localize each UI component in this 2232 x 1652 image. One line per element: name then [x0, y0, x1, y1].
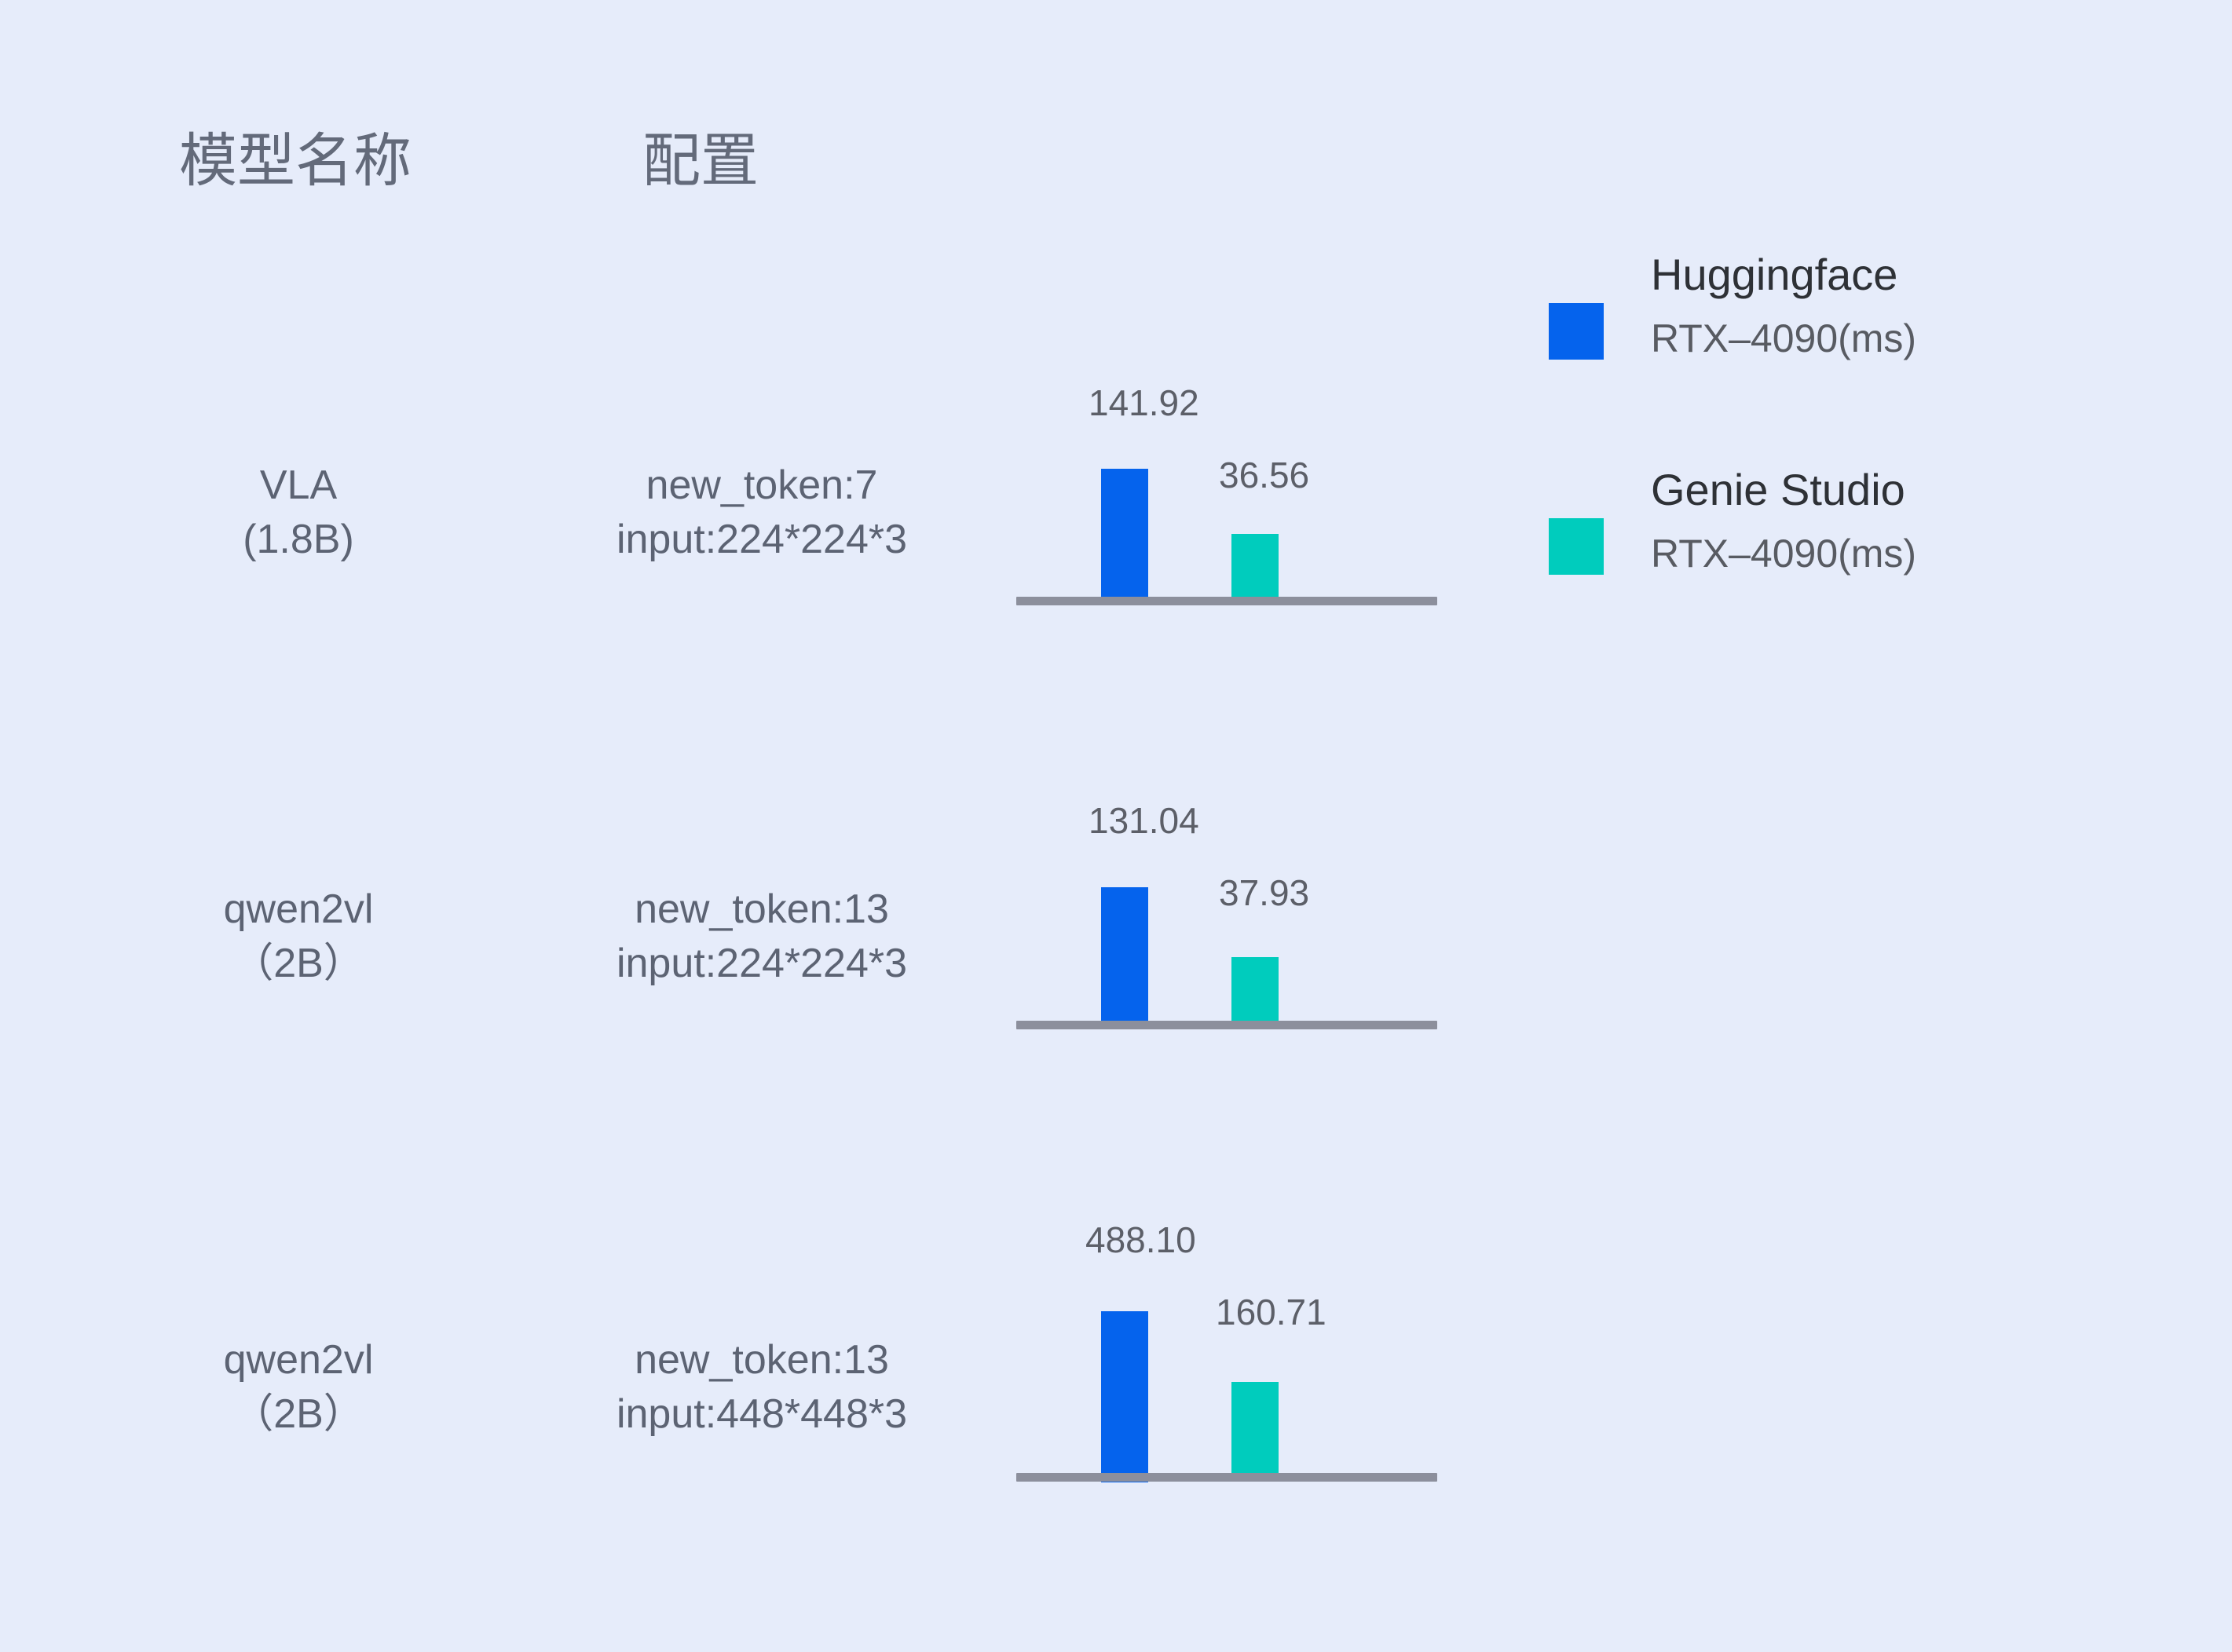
baseline-axis: [1016, 1021, 1437, 1029]
legend-item-name: Genie Studio: [1651, 468, 2138, 512]
baseline-axis: [1016, 1473, 1437, 1482]
row-model-label-line1: qwen2vl: [224, 886, 374, 932]
row-config-label-line2: input:224*224*3: [471, 937, 1052, 991]
legend-item-text: Huggingface RTX–4090(ms): [1651, 253, 2138, 358]
legend-item-sub: RTX–4090(ms): [1651, 534, 2138, 573]
chart-canvas: 模型名称 配置 VLA (1.8B) new_token:7 input:224…: [0, 0, 2232, 1652]
bar-value-label-huggingface: 488.10: [1085, 1222, 1196, 1258]
bar-value-label-genie-studio: 36.56: [1219, 457, 1309, 493]
row-config-label: new_token:13 input:448*448*3: [471, 1333, 1052, 1441]
legend-swatch-square-icon: [1549, 518, 1604, 575]
column-header-model-name: 模型名称: [179, 132, 412, 190]
bar-value-label-huggingface: 131.04: [1089, 802, 1199, 839]
column-header-config: 配置: [642, 132, 759, 190]
row-model-label: qwen2vl （2B）: [141, 1333, 456, 1441]
row-plot-area: 131.04 37.93: [1016, 669, 1440, 1032]
legend-item-name: Huggingface: [1651, 253, 2138, 297]
row-model-label: qwen2vl （2B）: [141, 883, 456, 990]
chart-row: qwen2vl （2B） new_token:13 input:224*224*…: [0, 669, 2232, 1032]
row-model-label-line1: qwen2vl: [224, 1337, 374, 1383]
bar-genie-studio[interactable]: [1231, 534, 1279, 597]
row-config-label-line2: input:224*224*3: [471, 513, 1052, 567]
bar-value-label-genie-studio: 160.71: [1216, 1294, 1326, 1330]
bar-genie-studio[interactable]: [1231, 957, 1279, 1021]
row-model-label-line2: （2B）: [141, 937, 456, 991]
row-config-label: new_token:7 input:224*224*3: [471, 459, 1052, 566]
row-model-label: VLA (1.8B): [141, 459, 456, 566]
row-config-label: new_token:13 input:224*224*3: [471, 883, 1052, 990]
bar-value-label-huggingface: 141.92: [1089, 385, 1199, 421]
bar-huggingface[interactable]: [1101, 469, 1148, 597]
row-config-label-line1: new_token:13: [635, 1337, 889, 1383]
legend-swatch-square-icon: [1549, 303, 1604, 360]
row-config-label-line2: input:448*448*3: [471, 1387, 1052, 1442]
row-config-label-line1: new_token:7: [646, 462, 878, 508]
chart-row: qwen2vl （2B） new_token:13 input:448*448*…: [0, 1098, 2232, 1484]
row-plot-area: 141.92 36.56: [1016, 245, 1440, 608]
bar-huggingface[interactable]: [1101, 887, 1148, 1021]
row-model-label-line2: （2B）: [141, 1387, 456, 1442]
row-plot-area: 488.10 160.71: [1016, 1098, 1440, 1484]
baseline-axis: [1016, 597, 1437, 605]
bar-value-label-genie-studio: 37.93: [1219, 875, 1309, 911]
row-model-label-line1: VLA: [260, 462, 337, 508]
legend-item-sub: RTX–4090(ms): [1651, 319, 2138, 358]
bar-genie-studio[interactable]: [1231, 1382, 1279, 1473]
row-model-label-line2: (1.8B): [141, 513, 456, 567]
row-config-label-line1: new_token:13: [635, 886, 889, 932]
legend-item-text: Genie Studio RTX–4090(ms): [1651, 468, 2138, 573]
bar-huggingface[interactable]: [1101, 1311, 1148, 1482]
